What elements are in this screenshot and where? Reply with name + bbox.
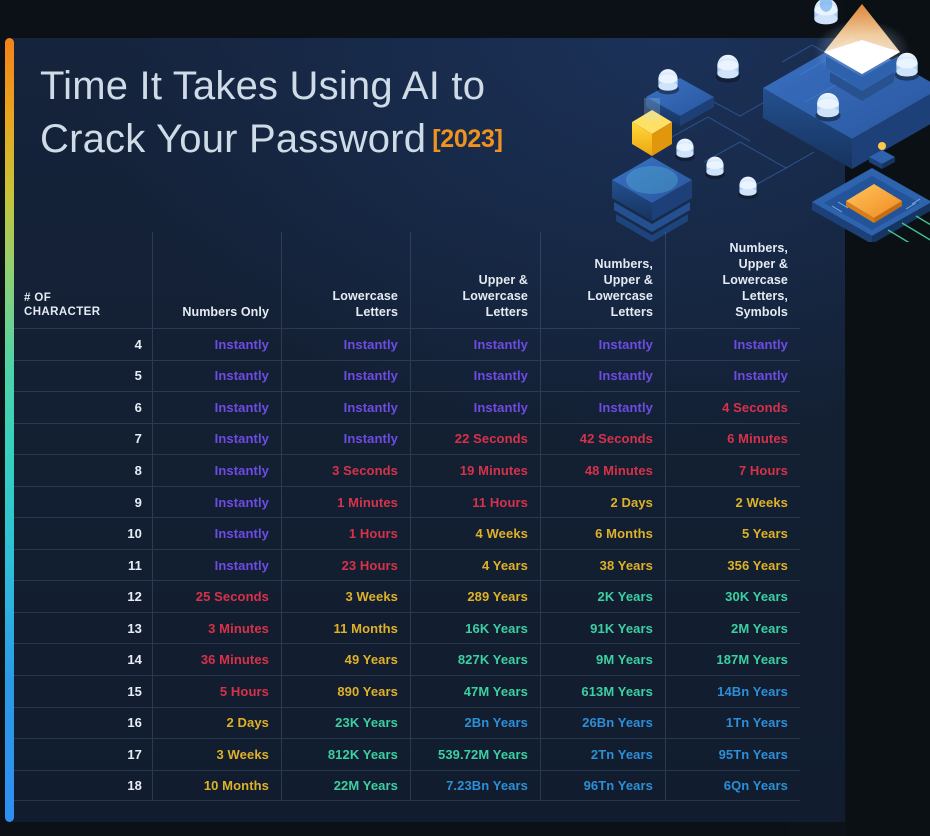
cell-crack-time: 289 Years: [410, 581, 540, 612]
cell-crack-time: 356 Years: [665, 550, 800, 581]
column-header-upper-lower: Upper & Lowercase Letters: [410, 232, 540, 328]
cell-crack-time: Instantly: [540, 361, 665, 392]
table-row: 1436 Minutes49 Years827K Years9M Years18…: [14, 643, 800, 675]
cell-crack-time: Instantly: [281, 392, 410, 423]
cell-crack-time: Instantly: [152, 550, 281, 581]
gradient-rail: [5, 38, 14, 822]
cell-crack-time: 95Tn Years: [665, 739, 800, 770]
cell-crack-time: Instantly: [540, 329, 665, 360]
column-header-numbers-upper-lower-symbols: Numbers, Upper & Lowercase Letters, Symb…: [665, 232, 800, 328]
cell-character-count: 9: [14, 487, 152, 518]
cell-crack-time: 10 Months: [152, 771, 281, 801]
background-panel-right: [843, 0, 930, 836]
cell-crack-time: 11 Months: [281, 613, 410, 644]
infographic-root: Time It Takes Using AI to Crack Your Pas…: [0, 0, 930, 836]
cell-crack-time: 11 Hours: [410, 487, 540, 518]
table-row: 1225 Seconds3 Weeks289 Years2K Years30K …: [14, 580, 800, 612]
column-header-numbers-only: Numbers Only: [152, 232, 281, 328]
cell-character-count: 10: [14, 518, 152, 549]
cell-crack-time: 539.72M Years: [410, 739, 540, 770]
cell-crack-time: 48 Minutes: [540, 455, 665, 486]
cell-crack-time: 2 Weeks: [665, 487, 800, 518]
cell-crack-time: 5 Hours: [152, 676, 281, 707]
cell-crack-time: 1 Minutes: [281, 487, 410, 518]
cell-character-count: 14: [14, 644, 152, 675]
title-line-1: Time It Takes Using AI to: [40, 64, 485, 108]
cell-crack-time: Instantly: [410, 361, 540, 392]
cell-character-count: 12: [14, 581, 152, 612]
cell-crack-time: 4 Weeks: [410, 518, 540, 549]
cell-crack-time: 96Tn Years: [540, 771, 665, 801]
table-row: 162 Days23K Years2Bn Years26Bn Years1Tn …: [14, 707, 800, 739]
cell-crack-time: Instantly: [152, 361, 281, 392]
cell-crack-time: 812K Years: [281, 739, 410, 770]
cell-crack-time: 2 Days: [152, 708, 281, 739]
table-row: 6InstantlyInstantlyInstantlyInstantly4 S…: [14, 391, 800, 423]
cell-crack-time: 14Bn Years: [665, 676, 800, 707]
table-row: 11Instantly23 Hours4 Years38 Years356 Ye…: [14, 549, 800, 581]
table-row: 1810 Months22M Years7.23Bn Years96Tn Yea…: [14, 770, 800, 802]
table-row: 173 Weeks812K Years539.72M Years2Tn Year…: [14, 738, 800, 770]
cell-crack-time: 23K Years: [281, 708, 410, 739]
cell-crack-time: Instantly: [281, 361, 410, 392]
cell-crack-time: Instantly: [152, 424, 281, 455]
cell-character-count: 11: [14, 550, 152, 581]
cell-crack-time: 613M Years: [540, 676, 665, 707]
cell-crack-time: 2K Years: [540, 581, 665, 612]
cell-crack-time: 3 Weeks: [152, 739, 281, 770]
cell-crack-time: 47M Years: [410, 676, 540, 707]
cell-crack-time: 9M Years: [540, 644, 665, 675]
cell-character-count: 17: [14, 739, 152, 770]
table-header: # OF CHARACTER Numbers Only Lowercase Le…: [14, 232, 800, 328]
column-header-lowercase: Lowercase Letters: [281, 232, 410, 328]
cell-character-count: 4: [14, 329, 152, 360]
cell-crack-time: 22 Seconds: [410, 424, 540, 455]
cell-crack-time: 19 Minutes: [410, 455, 540, 486]
cell-crack-time: Instantly: [540, 392, 665, 423]
cell-crack-time: 6 Minutes: [665, 424, 800, 455]
cell-crack-time: 6Qn Years: [665, 771, 800, 801]
cell-crack-time: 16K Years: [410, 613, 540, 644]
table-header-row: # OF CHARACTER Numbers Only Lowercase Le…: [14, 232, 800, 328]
cell-crack-time: 36 Minutes: [152, 644, 281, 675]
cell-crack-time: 827K Years: [410, 644, 540, 675]
cell-character-count: 18: [14, 771, 152, 801]
cell-crack-time: 25 Seconds: [152, 581, 281, 612]
cell-character-count: 6: [14, 392, 152, 423]
cell-crack-time: 3 Seconds: [281, 455, 410, 486]
cell-crack-time: Instantly: [410, 329, 540, 360]
cell-crack-time: 23 Hours: [281, 550, 410, 581]
cell-crack-time: 2 Days: [540, 487, 665, 518]
cell-crack-time: 49 Years: [281, 644, 410, 675]
cell-character-count: 15: [14, 676, 152, 707]
cell-character-count: 7: [14, 424, 152, 455]
cell-crack-time: 26Bn Years: [540, 708, 665, 739]
cell-crack-time: 4 Seconds: [665, 392, 800, 423]
cell-crack-time: 38 Years: [540, 550, 665, 581]
cell-crack-time: 890 Years: [281, 676, 410, 707]
cell-crack-time: 5 Years: [665, 518, 800, 549]
table-row: 4InstantlyInstantlyInstantlyInstantlyIns…: [14, 328, 800, 360]
cell-crack-time: Instantly: [152, 487, 281, 518]
cell-crack-time: 7.23Bn Years: [410, 771, 540, 801]
cell-crack-time: Instantly: [665, 361, 800, 392]
cell-crack-time: Instantly: [281, 329, 410, 360]
cell-crack-time: 4 Years: [410, 550, 540, 581]
column-header-numbers-upper-lower: Numbers, Upper & Lowercase Letters: [540, 232, 665, 328]
cell-crack-time: Instantly: [410, 392, 540, 423]
table-row: 9Instantly1 Minutes11 Hours2 Days2 Weeks: [14, 486, 800, 518]
table-row: 10Instantly1 Hours4 Weeks6 Months5 Years: [14, 517, 800, 549]
cell-character-count: 13: [14, 613, 152, 644]
cell-crack-time: Instantly: [281, 424, 410, 455]
table-row: 155 Hours890 Years47M Years613M Years14B…: [14, 675, 800, 707]
password-crack-time-table: # OF CHARACTER Numbers Only Lowercase Le…: [14, 232, 800, 801]
cell-crack-time: 91K Years: [540, 613, 665, 644]
table-body: 4InstantlyInstantlyInstantlyInstantlyIns…: [14, 328, 800, 801]
cell-character-count: 8: [14, 455, 152, 486]
cell-crack-time: 1 Hours: [281, 518, 410, 549]
column-header-characters: # OF CHARACTER: [14, 232, 152, 328]
cell-crack-time: 1Tn Years: [665, 708, 800, 739]
cell-crack-time: 3 Weeks: [281, 581, 410, 612]
title-year: [2023]: [432, 125, 502, 153]
page-title: Time It Takes Using AI to Crack Your Pas…: [40, 60, 620, 166]
table-row: 7InstantlyInstantly22 Seconds42 Seconds6…: [14, 423, 800, 455]
cell-crack-time: 2M Years: [665, 613, 800, 644]
table-row: 133 Minutes11 Months16K Years91K Years2M…: [14, 612, 800, 644]
cell-crack-time: 6 Months: [540, 518, 665, 549]
cell-crack-time: 3 Minutes: [152, 613, 281, 644]
cell-crack-time: Instantly: [152, 518, 281, 549]
cell-character-count: 5: [14, 361, 152, 392]
cell-crack-time: Instantly: [152, 392, 281, 423]
cell-crack-time: 2Tn Years: [540, 739, 665, 770]
cell-crack-time: 187M Years: [665, 644, 800, 675]
cell-crack-time: Instantly: [152, 329, 281, 360]
cell-crack-time: 7 Hours: [665, 455, 800, 486]
cell-character-count: 16: [14, 708, 152, 739]
cell-crack-time: 22M Years: [281, 771, 410, 801]
cell-crack-time: Instantly: [152, 455, 281, 486]
table-row: 8Instantly3 Seconds19 Minutes48 Minutes7…: [14, 454, 800, 486]
table-row: 5InstantlyInstantlyInstantlyInstantlyIns…: [14, 360, 800, 392]
cell-crack-time: 30K Years: [665, 581, 800, 612]
cell-crack-time: Instantly: [665, 329, 800, 360]
title-line-2: Crack Your Password: [40, 117, 426, 161]
cell-crack-time: 2Bn Years: [410, 708, 540, 739]
cell-crack-time: 42 Seconds: [540, 424, 665, 455]
